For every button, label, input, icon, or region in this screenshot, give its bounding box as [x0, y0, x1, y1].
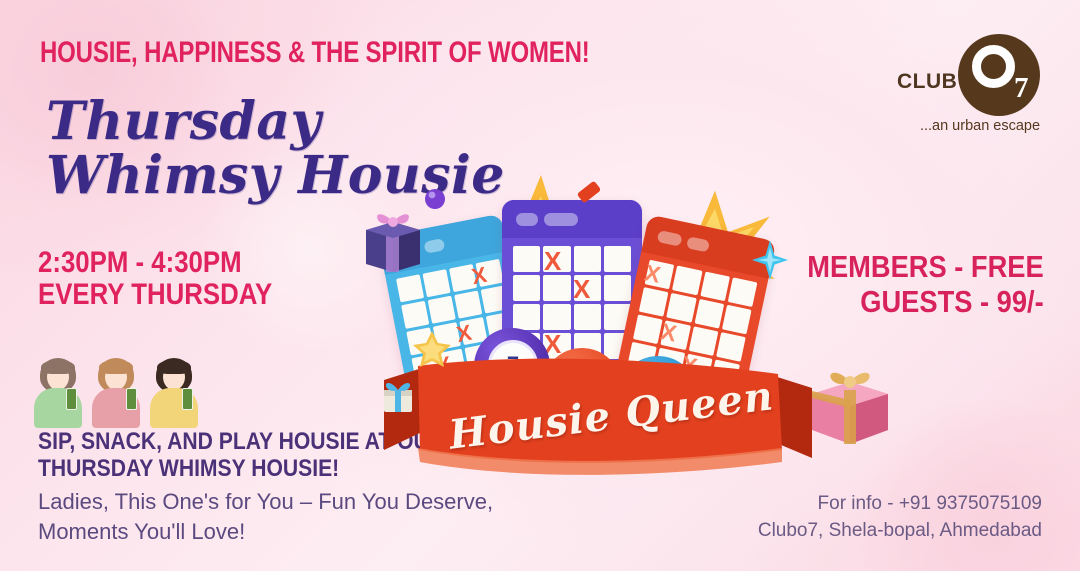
housie-illustration: X X X X X X [370, 180, 830, 490]
logo-tagline: ...an urban escape [910, 118, 1050, 134]
promo-subtext: Ladies, This One's for You – Fun You Des… [38, 487, 493, 547]
pricing-members: MEMBERS - FREE [808, 250, 1044, 285]
promo-sub-line-2: Moments You'll Love! [38, 517, 493, 547]
pricing-block: MEMBERS - FREE GUESTS - 99/- [808, 250, 1044, 319]
schedule-time: 2:30PM - 4:30PM [38, 247, 272, 279]
contact-block: For info - +91 9375075109 Clubo7, Shela-… [758, 490, 1042, 545]
gift-box-blue [378, 376, 418, 421]
women-illustration [32, 358, 202, 428]
contact-address: Clubo7, Shela-bopal, Ahmedabad [758, 517, 1042, 545]
woman-figure [148, 358, 200, 428]
pricing-guests: GUESTS - 99/- [808, 285, 1044, 320]
title-line-1: Thursday [46, 91, 321, 152]
schedule-day: EVERY THURSDAY [38, 279, 272, 311]
club-o7-logo: CLUB 7 ...an urban escape [900, 32, 1050, 140]
promo-poster: HOUSIE, HAPPINESS & THE SPIRIT OF WOMEN!… [0, 0, 1080, 571]
gift-box-purple [358, 206, 428, 277]
card-x-mark: X [544, 248, 561, 274]
woman-figure [90, 358, 142, 428]
schedule-block: 2:30PM - 4:30PM EVERY THURSDAY [38, 247, 272, 311]
logo-seven-text: 7 [1014, 72, 1029, 105]
logo-club-text: CLUB [897, 70, 957, 94]
kicker-headline: HOUSIE, HAPPINESS & THE SPIRIT OF WOMEN! [40, 38, 552, 68]
gold-star-icon [412, 330, 452, 373]
logo-o-ring-icon [972, 45, 1015, 88]
woman-figure [32, 358, 84, 428]
gift-box-pink [802, 360, 898, 453]
sparkle-star-icon [752, 240, 788, 285]
card-x-mark: X [573, 276, 590, 302]
